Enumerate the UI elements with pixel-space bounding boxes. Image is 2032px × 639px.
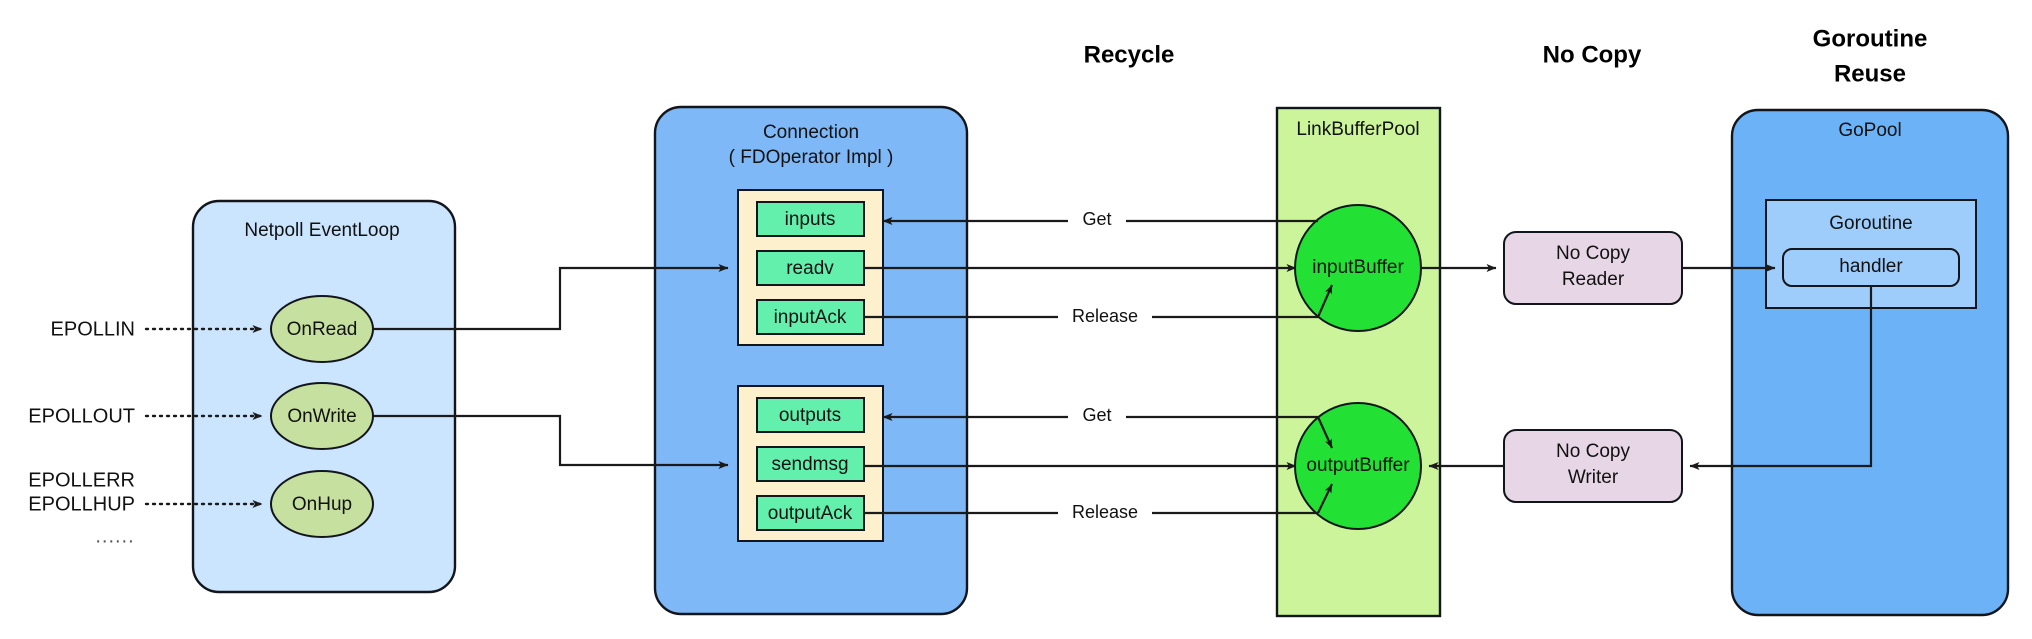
section-title-goroutine-reuse-line2: Reuse — [1834, 60, 1906, 87]
node-input-ack-label: inputAck — [774, 307, 847, 328]
edge-label-get-output: Get — [1082, 405, 1111, 425]
diagram-canvas: Recycle No Copy Goroutine Reuse Netpoll … — [0, 0, 2032, 639]
gopool-title: GoPool — [1838, 120, 1901, 141]
linkbufferpool-title: LinkBufferPool — [1296, 119, 1419, 140]
node-output-ack-label: outputAck — [768, 503, 853, 524]
connection-title-line2: ( FDOperator Impl ) — [729, 147, 894, 168]
no-copy-reader-label-line1: No Copy — [1556, 243, 1630, 264]
section-title-recycle: Recycle — [1084, 41, 1175, 68]
connection-title-line1: Connection — [763, 122, 859, 143]
node-output-buffer-label: outputBuffer — [1306, 455, 1410, 476]
linkbufferpool-container — [1277, 108, 1440, 616]
no-copy-writer-label-line1: No Copy — [1556, 441, 1630, 462]
netpoll-architecture-diagram: Recycle No Copy Goroutine Reuse Netpoll … — [0, 0, 2032, 639]
node-outputs-label: outputs — [779, 405, 841, 426]
event-label-epollerr: EPOLLERR — [28, 469, 135, 491]
node-input-buffer-label: inputBuffer — [1312, 257, 1404, 278]
node-onhup-label: OnHup — [292, 494, 352, 515]
event-label-epollout: EPOLLOUT — [28, 405, 135, 427]
no-copy-reader-label-line2: Reader — [1562, 269, 1625, 290]
node-readv-label: readv — [786, 258, 834, 279]
section-title-no-copy: No Copy — [1543, 41, 1642, 68]
edge-label-release-output: Release — [1072, 502, 1138, 522]
section-title-goroutine-reuse-line1: Goroutine — [1813, 25, 1928, 52]
goroutine-title: Goroutine — [1829, 213, 1912, 234]
no-copy-writer-label-line2: Writer — [1568, 467, 1619, 488]
edge-label-get-input: Get — [1082, 209, 1111, 229]
node-onwrite-label: OnWrite — [287, 406, 356, 427]
netpoll-eventloop-title: Netpoll EventLoop — [244, 220, 399, 241]
event-label-epollin: EPOLLIN — [51, 318, 135, 340]
event-label-more: ...... — [95, 525, 134, 547]
node-onread-label: OnRead — [287, 319, 358, 340]
edge-label-release-input: Release — [1072, 306, 1138, 326]
handler-label: handler — [1839, 256, 1903, 277]
node-sendmsg-label: sendmsg — [771, 454, 848, 475]
event-label-epollhup: EPOLLHUP — [28, 493, 135, 515]
node-inputs-label: inputs — [785, 209, 836, 230]
